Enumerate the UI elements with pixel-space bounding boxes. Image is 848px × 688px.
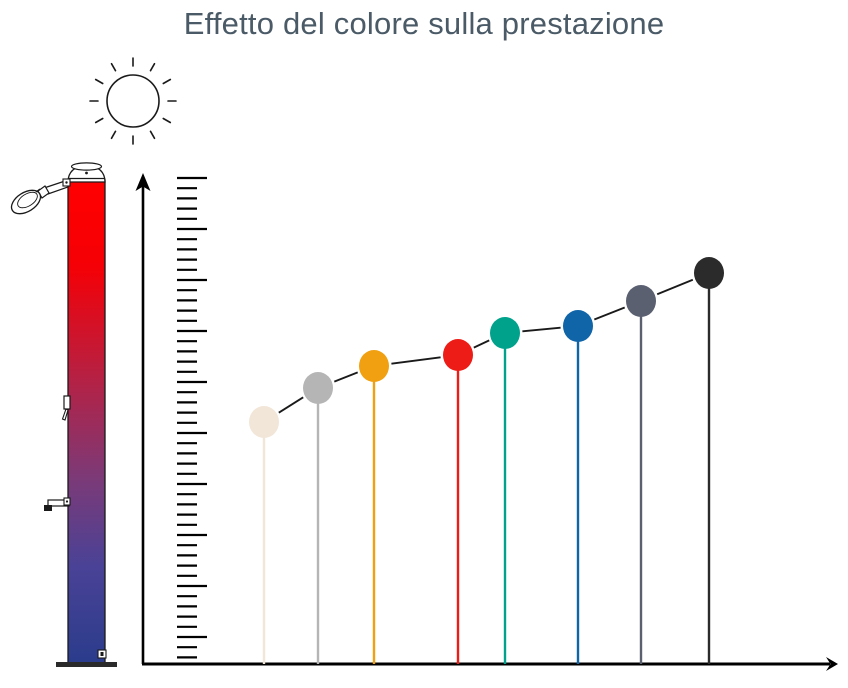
connector-segment xyxy=(474,340,489,347)
ruler-scale-icon xyxy=(177,178,207,657)
chart-canvas: Effetto del colore sulla prestazione xyxy=(0,0,848,688)
marker-grigio-antracite xyxy=(626,285,656,317)
chart-illustration xyxy=(0,0,848,688)
marker-blu xyxy=(563,310,593,342)
marker-rosso xyxy=(443,339,473,371)
connector-segment xyxy=(279,397,303,412)
column-outlet-fitting-icon xyxy=(98,650,106,658)
x-axis-arrow-icon xyxy=(142,657,838,671)
marker-avorio xyxy=(249,406,279,438)
marker-grigio-chiaro xyxy=(303,372,333,404)
marker-arancione xyxy=(359,350,389,382)
data-stems xyxy=(264,273,709,664)
connector-segment xyxy=(657,280,693,295)
shower-head-icon xyxy=(7,179,70,219)
connector-segment xyxy=(522,328,560,332)
connector-segment xyxy=(334,372,357,381)
connector-segment xyxy=(391,357,440,363)
marker-verde-acqua xyxy=(490,317,520,349)
marker-nero xyxy=(694,257,724,289)
data-markers xyxy=(249,257,724,438)
sun-icon xyxy=(90,58,176,144)
foot-wash-tap-icon xyxy=(44,498,70,511)
y-axis-arrow-icon xyxy=(136,173,151,664)
connector-segment xyxy=(594,308,624,320)
